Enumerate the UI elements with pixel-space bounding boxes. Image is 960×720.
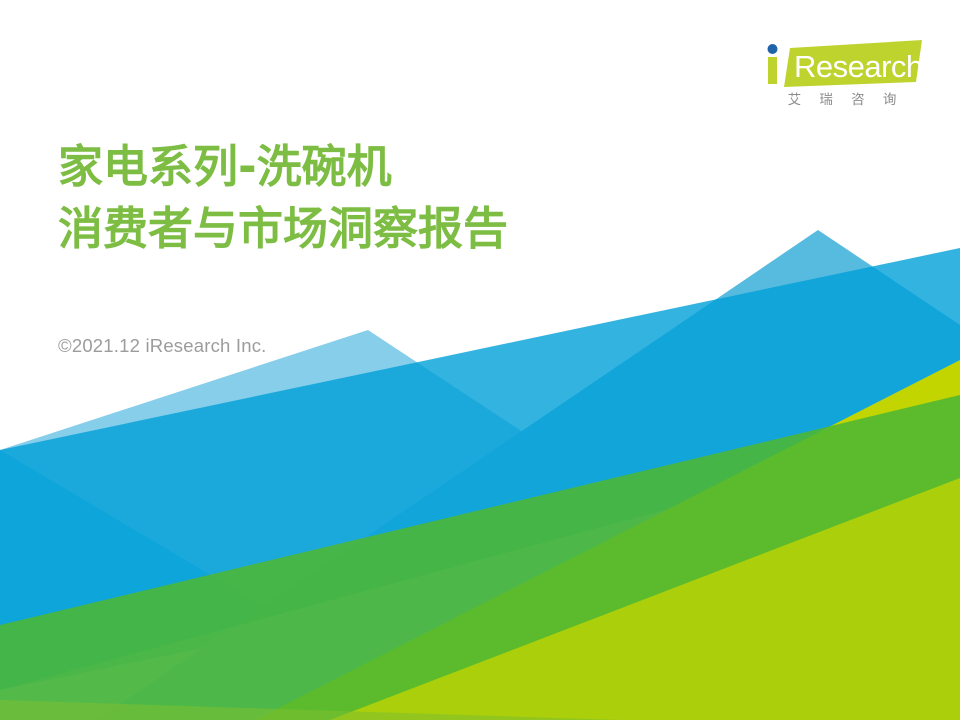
copyright-notice: ©2021.12 iResearch Inc. xyxy=(58,335,267,357)
shape-light-blue-mountain-left xyxy=(0,330,960,720)
logo-subtitle: 艾 瑞 咨 询 xyxy=(762,92,922,108)
title-line-1: 家电系列-洗碗机 xyxy=(58,136,508,198)
logo-wordmark: Research xyxy=(762,40,922,90)
shape-green-overlay-bottom-left xyxy=(0,700,620,720)
slide-canvas: Research 艾 瑞 咨 询 家电系列-洗碗机 消费者与市场洞察报告 ©20… xyxy=(0,0,960,720)
page-title: 家电系列-洗碗机 消费者与市场洞察报告 xyxy=(58,136,508,260)
shape-mid-blue-band xyxy=(0,248,960,690)
logo-i-stem xyxy=(768,57,777,84)
shape-yellow-green-overlay xyxy=(330,478,960,720)
logo-i-dot-icon xyxy=(768,44,778,54)
logo-research-text: Research xyxy=(794,49,922,84)
shape-yellow-green-field xyxy=(255,360,960,720)
shape-light-blue-mountain-right xyxy=(96,230,960,720)
shape-green-field xyxy=(0,395,960,720)
title-line-2: 消费者与市场洞察报告 xyxy=(58,198,508,260)
iresearch-logo: Research 艾 瑞 咨 询 xyxy=(762,40,922,118)
shape-cyan-left-wedge xyxy=(0,450,300,690)
